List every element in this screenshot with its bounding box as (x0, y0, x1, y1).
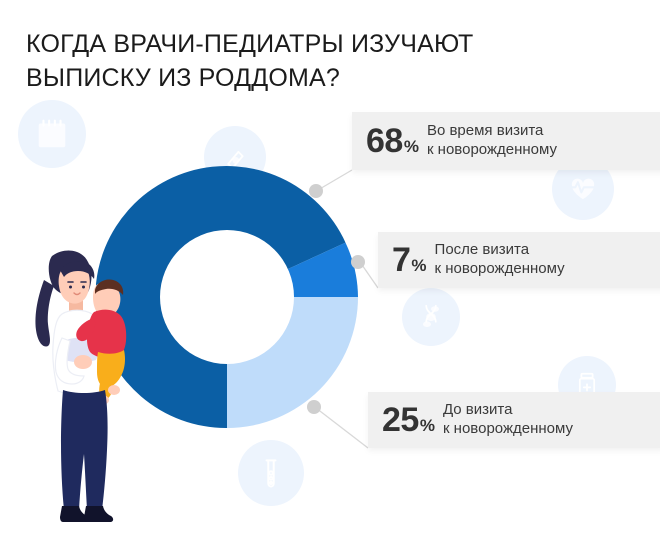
callout-box-2[interactable]: 7% После визита к новорожденному (378, 232, 660, 288)
callout-percent-3: 25% (382, 403, 435, 437)
mother-and-baby-illustration (6, 234, 146, 540)
callout-label-1: Во время визита к новорожденному (427, 122, 557, 160)
callout-percent-1: 68% (366, 124, 419, 158)
page-title: КОГДА ВРАЧИ-ПЕДИАТРЫ ИЗУЧАЮТ ВЫПИСКУ ИЗ … (26, 28, 586, 95)
donut-center-hole (160, 230, 294, 364)
callout-label-3: До визита к новорожденному (443, 401, 573, 439)
dna-icon (402, 288, 460, 346)
callout-box-3[interactable]: 25% До визита к новорожденному (368, 392, 660, 448)
callout-label-2: После визита к новорожденному (435, 241, 565, 279)
infographic-canvas: КОГДА ВРАЧИ-ПЕДИАТРЫ ИЗУЧАЮТ ВЫПИСКУ ИЗ … (0, 0, 660, 540)
callout-percent-2: 7% (392, 243, 427, 277)
calendar-icon (18, 100, 86, 168)
test-tube-icon (238, 440, 304, 506)
callout-box-1[interactable]: 68% Во время визита к новорожденному (352, 112, 660, 170)
